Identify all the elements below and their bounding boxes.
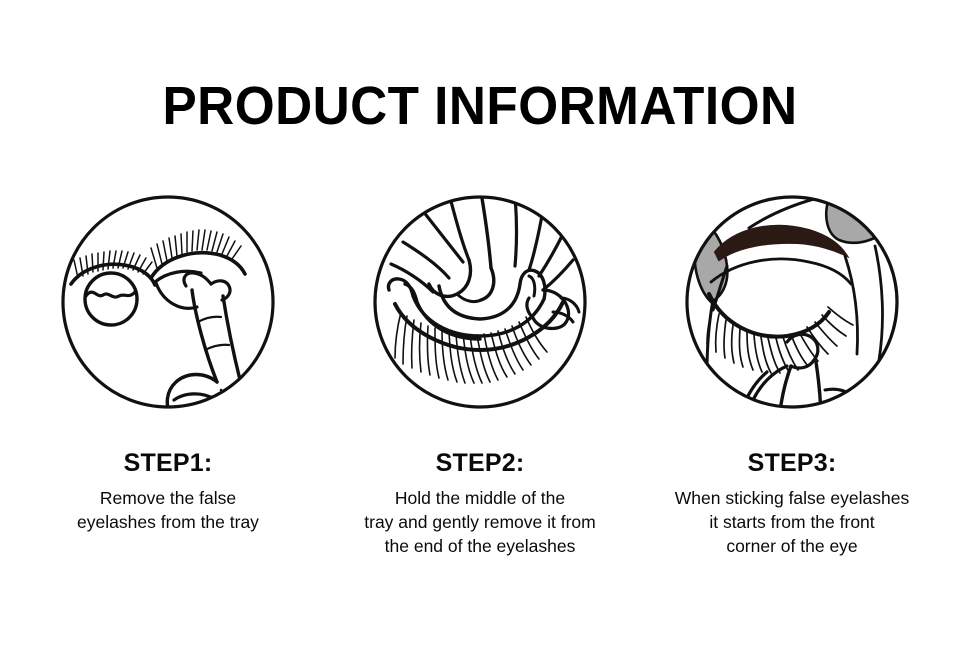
right-eye-group [151, 230, 245, 308]
step-card-2: STEP2: Hold the middle of the tray and g… [330, 186, 630, 558]
hair-shape-top-right [826, 196, 897, 243]
step-2-description-line-1: Hold the middle of the [330, 486, 630, 510]
step-3-label: STEP3: [748, 448, 837, 478]
step-3-description-line-3: corner of the eye [642, 534, 942, 558]
eye-and-pointing-finger-illustration [45, 186, 291, 432]
step-card-1: STEP1: Remove the false eyelashes from t… [18, 186, 318, 534]
step-1-label: STEP1: [124, 448, 213, 478]
step-card-3: STEP3: When sticking false eyelashes it … [642, 186, 942, 558]
step-2-label: STEP2: [436, 448, 525, 478]
page-title: PRODUCT INFORMATION [24, 78, 936, 134]
eyebrow [715, 226, 847, 260]
eyelashes-group [707, 306, 853, 373]
step-2-description: Hold the middle of the tray and gently r… [330, 486, 630, 558]
left-eye-group [71, 251, 155, 325]
product-information-panel: PRODUCT INFORMATION [0, 0, 960, 655]
step-2-description-line-3: the end of the eyelashes [330, 534, 630, 558]
step-3-description: When sticking false eyelashes it starts … [642, 486, 942, 558]
fingers-holding-lash-tray-illustration [357, 186, 603, 432]
step-3-description-line-1: When sticking false eyelashes [642, 486, 942, 510]
step-3-description-line-2: it starts from the front [642, 510, 942, 534]
step-1-description-line-2: eyelashes from the tray [18, 510, 318, 534]
step-2-description-line-2: tray and gently remove it from [330, 510, 630, 534]
applying-lash-to-closed-eye-illustration [669, 186, 915, 432]
step-1-description: Remove the false eyelashes from the tray [18, 486, 318, 534]
step-1-description-line-1: Remove the false [18, 486, 318, 510]
steps-row: STEP1: Remove the false eyelashes from t… [0, 186, 960, 558]
